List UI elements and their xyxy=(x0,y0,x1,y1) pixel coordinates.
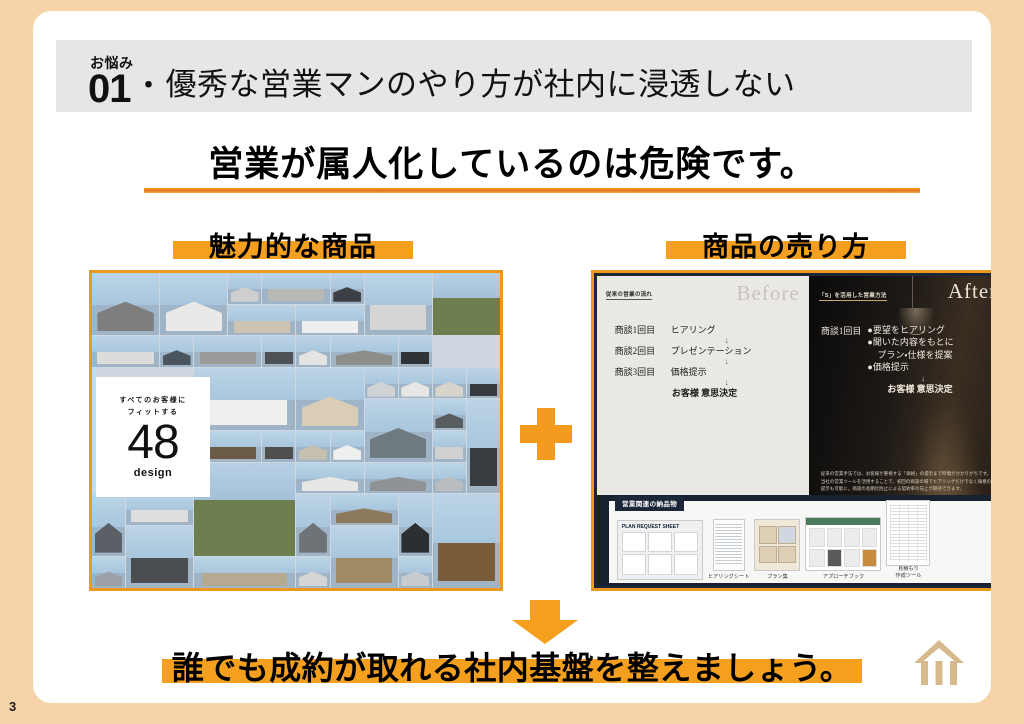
header-band: お悩み 01 ・ 優秀な営業マンのやり方が社内に浸透しない xyxy=(56,40,972,112)
deliverable-item: ヒアリングシート xyxy=(708,519,750,580)
flow-arrow: ↓ xyxy=(645,379,809,387)
trouble-block: お悩み 01 xyxy=(88,56,134,108)
before-row-label: 商談3回目 xyxy=(615,368,663,377)
after-bullet: ●価格提示 xyxy=(867,363,953,372)
after-bullet: プラン・仕様を提案 xyxy=(867,351,953,360)
deliverable-item: PLAN REQUEST SHEET xyxy=(617,520,703,580)
before-row-label: 商談1回目 xyxy=(615,326,663,335)
before-flow-list: 商談1回目ヒアリング ↓ 商談2回目プレゼンテーション ↓ 商談3回目価格提示 … xyxy=(615,326,809,398)
deliverable-caption-line2: 作成ツール xyxy=(895,573,921,580)
deliverable-caption: プラン集 xyxy=(767,573,788,580)
deliverables-row: PLAN REQUEST SHEET ヒアリングシート プラン集 xyxy=(617,512,985,580)
deliverable-item: アプローチブック xyxy=(805,517,881,580)
house-m-logo xyxy=(913,637,965,689)
flow-arrow: ↓ xyxy=(645,358,809,366)
section-label-right: 商品の売り方 xyxy=(666,226,906,262)
after-flow-list: 商談1回目 ●要望をヒアリング ●聞いた内容をもとに プラン・仕様を提案 ●価格… xyxy=(821,326,991,395)
after-bullet: ●聞いた内容をもとに xyxy=(867,338,953,347)
after-row-label: 商談1回目 xyxy=(821,326,862,336)
pampas-grass xyxy=(908,393,982,510)
before-row-label: 商談2回目 xyxy=(615,347,663,356)
after-bullet: ●要望をヒアリング xyxy=(867,326,953,335)
deliverable-caption: アプローチブック xyxy=(823,573,865,580)
approach-book-thumbnail xyxy=(805,517,881,571)
header-bullet: ・ xyxy=(136,65,162,102)
deliverables-tag: 営業関連の納品物 xyxy=(615,496,684,511)
bottom-banner: 誰でも成約が取れる社内基盤を整えましょう。 xyxy=(33,643,991,689)
card-line1: すべてのお客様に xyxy=(119,395,186,407)
after-small-title: 「S」を活用した営業方法 xyxy=(819,291,887,301)
deliverable-item: 見積もり 作成ツール xyxy=(886,500,930,580)
after-final: お客様 意思決定 xyxy=(821,385,991,394)
headline-wrap: 営業が属人化しているのは危険です。 xyxy=(33,136,991,195)
before-final: お客様 意思決定 xyxy=(615,389,809,398)
before-row-value: 価格提示 xyxy=(671,368,707,377)
deliverable-item: プラン集 xyxy=(754,519,800,580)
plan-book-thumbnail xyxy=(754,519,800,571)
deliverables-section: 営業関連の納品物 PLAN REQUEST SHEET ヒアリングシート xyxy=(597,495,991,585)
plus-icon xyxy=(520,408,572,460)
slide-card: お悩み 01 ・ 優秀な営業マンのやり方が社内に浸透しない 営業が属人化している… xyxy=(33,11,991,703)
after-section: 「S」を活用した営業方法 After 商談1回目 ●要望をヒアリング ●聞いた内… xyxy=(809,276,991,502)
card-subtitle: design xyxy=(134,467,172,479)
before-section: 従来の営業の流れ Before 商談1回目ヒアリング ↓ 商談2回目プレゼンテー… xyxy=(597,276,817,502)
hearing-sheet-thumbnail xyxy=(713,519,745,571)
before-heading: Before xyxy=(737,281,800,306)
section-label-right-text: 商品の売り方 xyxy=(692,225,880,264)
bottom-banner-text: 誰でも成約が取れる社内基盤を整えましょう。 xyxy=(172,643,853,689)
headline-underline xyxy=(144,188,920,193)
section-label-left: 魅力的な商品 xyxy=(173,226,413,262)
before-row-value: ヒアリング xyxy=(671,326,716,335)
trouble-number: 01 xyxy=(88,71,131,108)
design-count-card: すべてのお客様に フィットする 48 design xyxy=(96,377,210,497)
before-small-title: 従来の営業の流れ xyxy=(606,290,652,300)
section-label-left-text: 魅力的な商品 xyxy=(199,225,387,264)
card-number: 48 xyxy=(127,420,178,466)
plan-request-sheet-title: PLAN REQUEST SHEET xyxy=(622,524,679,530)
plan-request-sheet-thumbnail: PLAN REQUEST SHEET xyxy=(617,520,703,580)
page-title: 営業が属人化しているのは危険です。 xyxy=(202,136,821,195)
flow-arrow: ↓ xyxy=(645,337,809,345)
flow-arrow: ↓ xyxy=(847,375,991,383)
deliverable-caption: ヒアリングシート xyxy=(708,573,750,580)
estimate-tool-thumbnail xyxy=(886,500,930,566)
after-note: 従来の営業手法では、お客様が重視する「価格」の提示まで時間がかかりがちです。当社… xyxy=(821,470,991,492)
down-arrow-icon xyxy=(504,600,586,644)
lamp-wire xyxy=(912,276,913,308)
header-title: 優秀な営業マンのやり方が社内に浸透しない xyxy=(166,59,796,104)
sales-method-slide-panel: 従来の営業の流れ Before 商談1回目ヒアリング ↓ 商談2回目プレゼンテー… xyxy=(591,270,991,591)
after-heading: After xyxy=(948,279,991,304)
page-number: 3 xyxy=(9,699,16,714)
before-row-value: プレゼンテーション xyxy=(671,347,752,356)
product-photo-grid-panel: すべてのお客様に フィットする 48 design xyxy=(89,270,503,591)
